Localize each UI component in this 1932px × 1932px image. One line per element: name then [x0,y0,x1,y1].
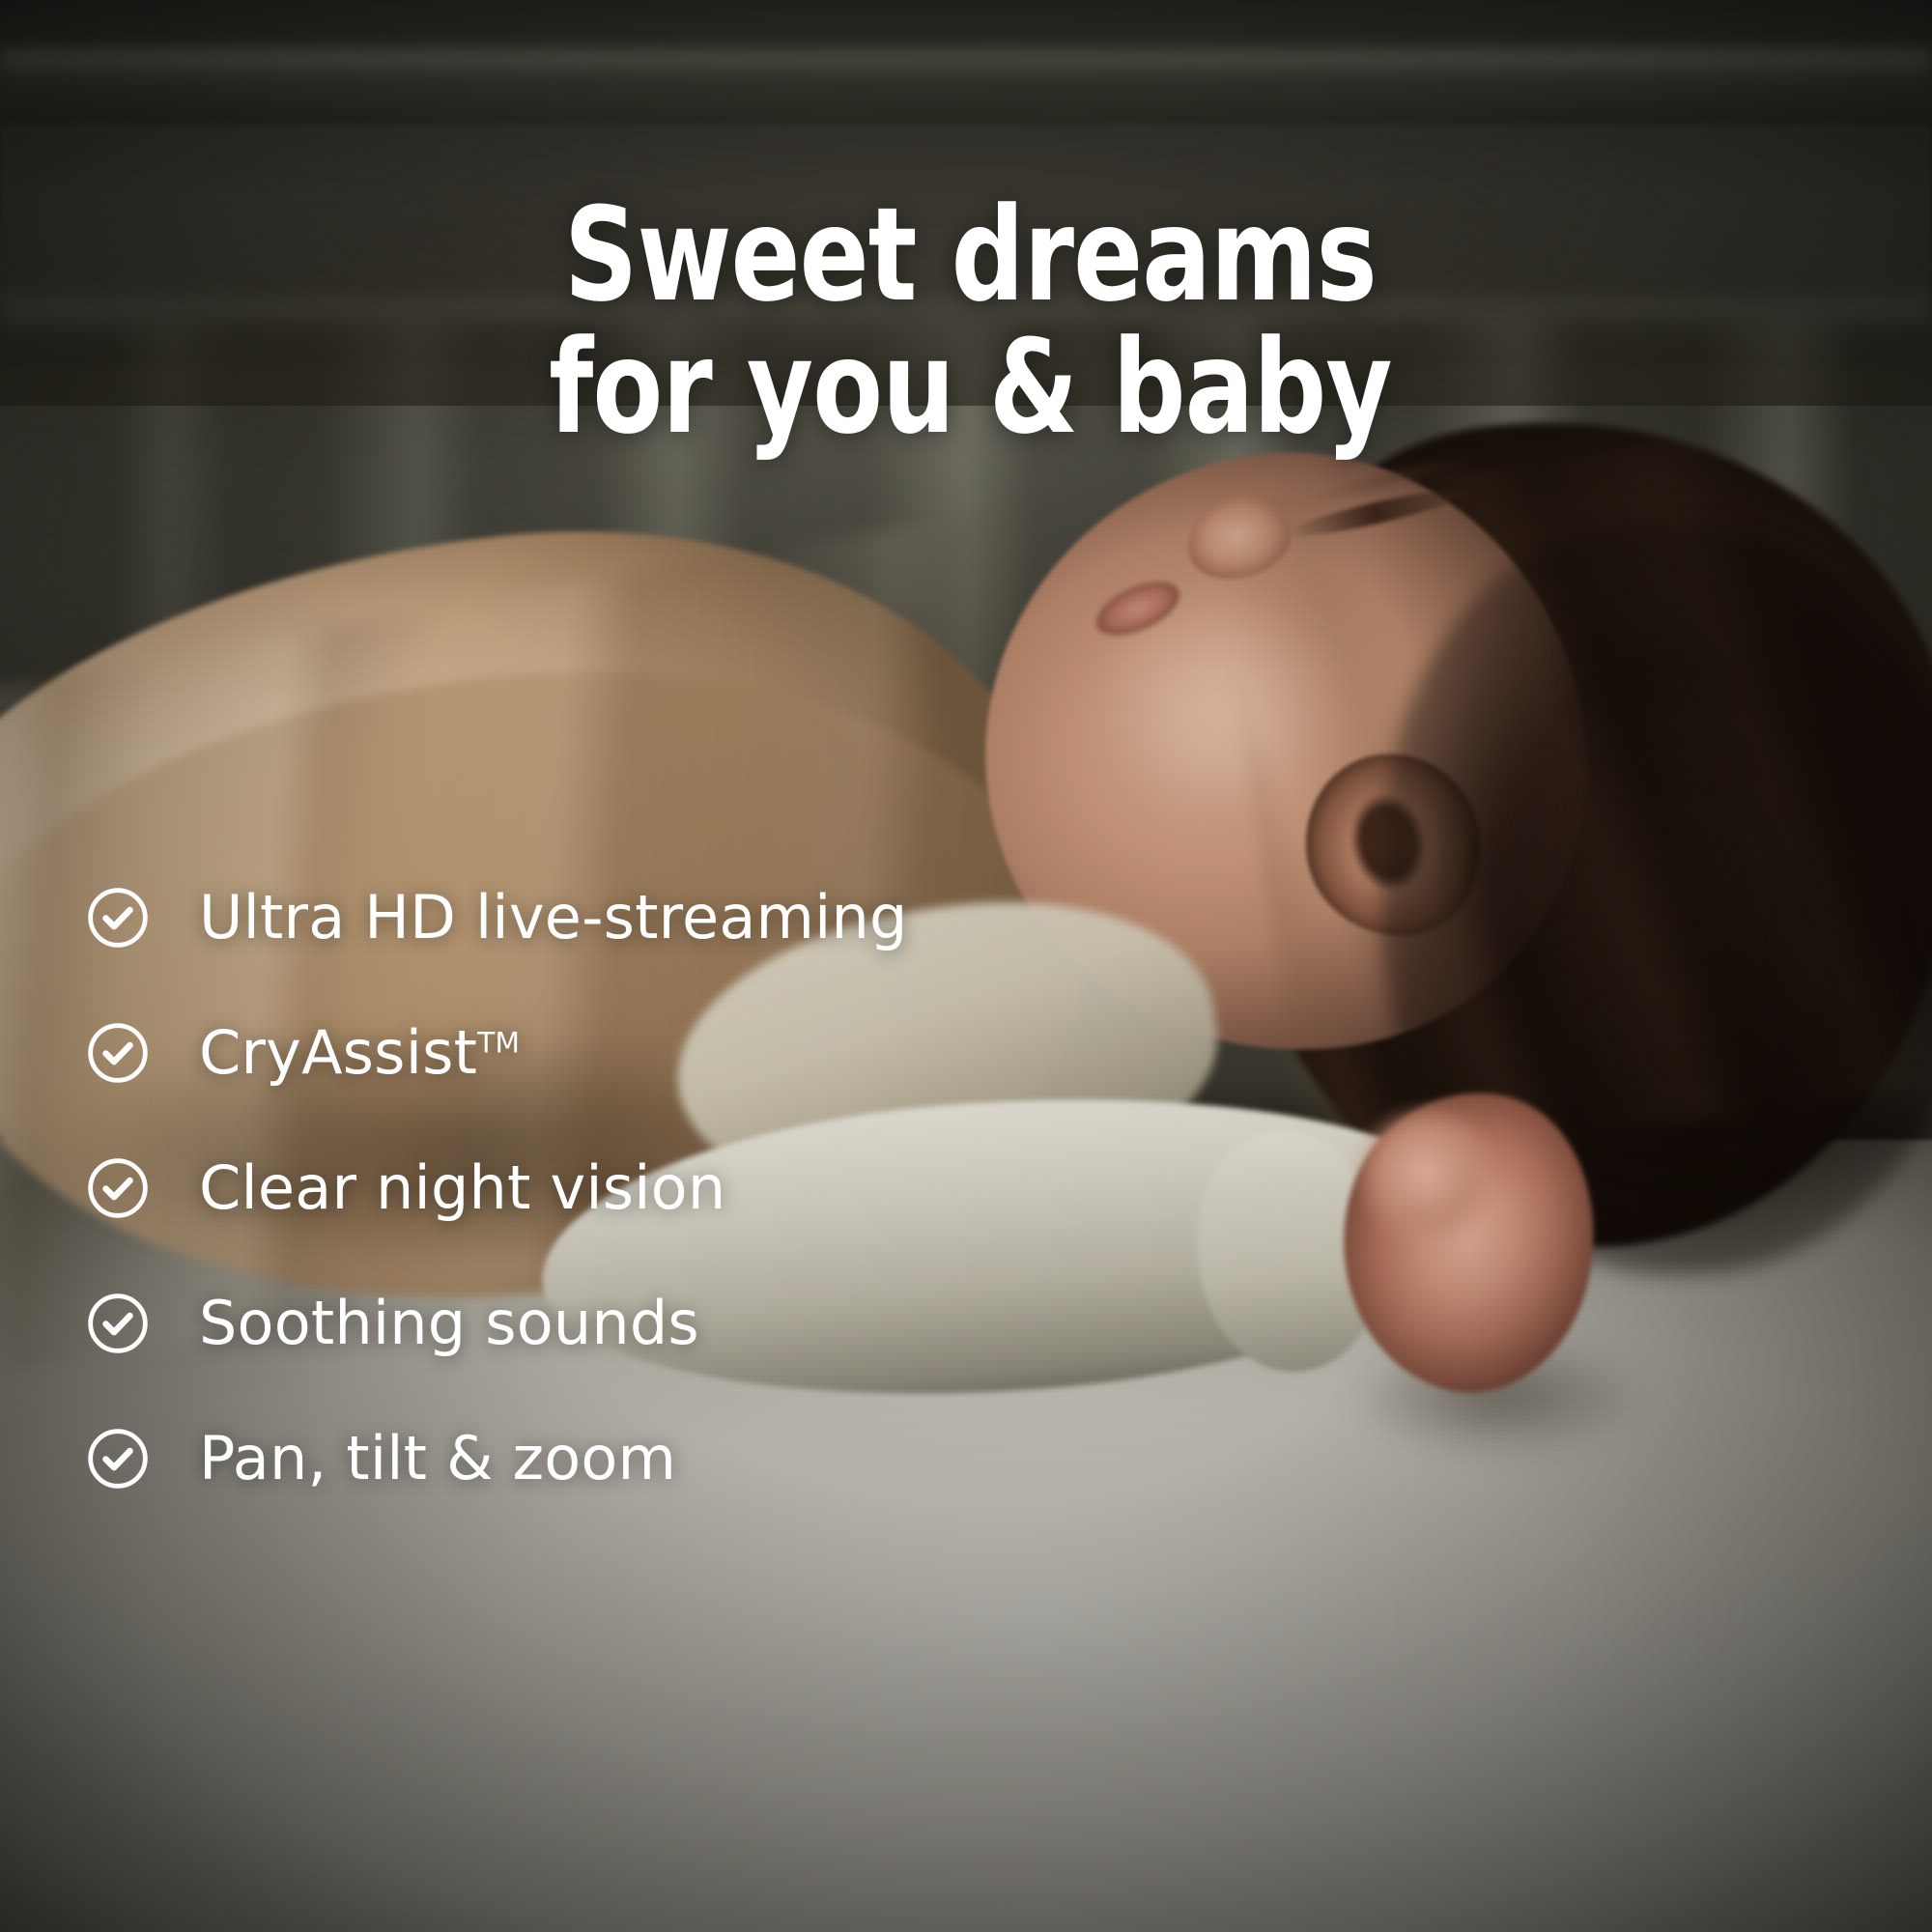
circle-check-icon [85,1426,151,1492]
feature-label: Pan, tilt & zoom [199,1429,676,1489]
overlay-content: Sweet dreams for you & baby Ultra HD liv… [0,0,1932,1932]
feature-list: Ultra HD live-streaming CryAssistTM Clea… [85,850,1225,1526]
circle-check-icon [85,1291,151,1356]
feature-label: Ultra HD live-streaming [199,888,908,948]
headline-line-1: Sweet dreams [125,189,1816,322]
feature-label: Clear night vision [199,1158,725,1218]
headline: Sweet dreams for you & baby [116,189,1816,453]
circle-check-icon [85,1155,151,1221]
feature-label: CryAssistTM [199,1023,520,1083]
feature-item: Clear night vision [85,1121,1225,1256]
trademark-symbol: TM [477,1026,520,1060]
headline-line-2: for you & baby [125,322,1816,454]
circle-check-icon [85,885,151,951]
feature-item: Pan, tilt & zoom [85,1391,1225,1526]
feature-item: Ultra HD live-streaming [85,850,1225,985]
feature-label: Soothing sounds [199,1293,699,1353]
circle-check-icon [85,1020,151,1086]
feature-item: CryAssistTM [85,985,1225,1121]
feature-item: Soothing sounds [85,1256,1225,1391]
marketing-image: Sweet dreams for you & baby Ultra HD liv… [0,0,1932,1932]
